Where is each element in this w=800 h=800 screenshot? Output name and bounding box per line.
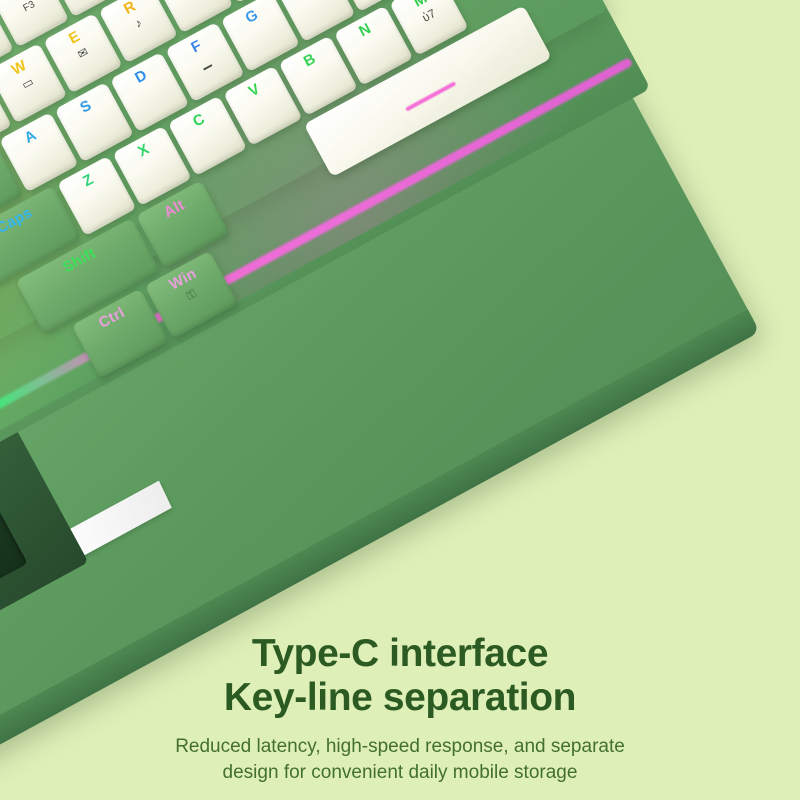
subcopy: Reduced latency, high-speed response, an… xyxy=(0,734,800,786)
calculator-icon: ▤ xyxy=(165,0,222,12)
key-secondary-legend: F2 xyxy=(0,18,2,56)
product-hero-image: 1 !F12 @F23 #F34 $F45 %F56 ^F67 &F78 *F8… xyxy=(0,0,800,800)
headline: Type-C interface Key-line separation xyxy=(0,632,800,720)
marketing-copy: Type-C interface Key-line separation Red… xyxy=(0,632,800,786)
home-icon: ⌂ xyxy=(0,94,1,132)
key-primary-legend: Tab xyxy=(0,146,4,200)
headline-line-1: Type-C interface xyxy=(0,632,800,676)
spacebar-rgb-mark xyxy=(405,81,456,111)
key-primary-legend: H xyxy=(278,0,336,7)
headline-line-2: Key-line separation xyxy=(0,676,800,720)
subcopy-line-2: design for convenient daily mobile stora… xyxy=(0,760,800,786)
subcopy-line-1: Reduced latency, high-speed response, an… xyxy=(0,734,800,760)
